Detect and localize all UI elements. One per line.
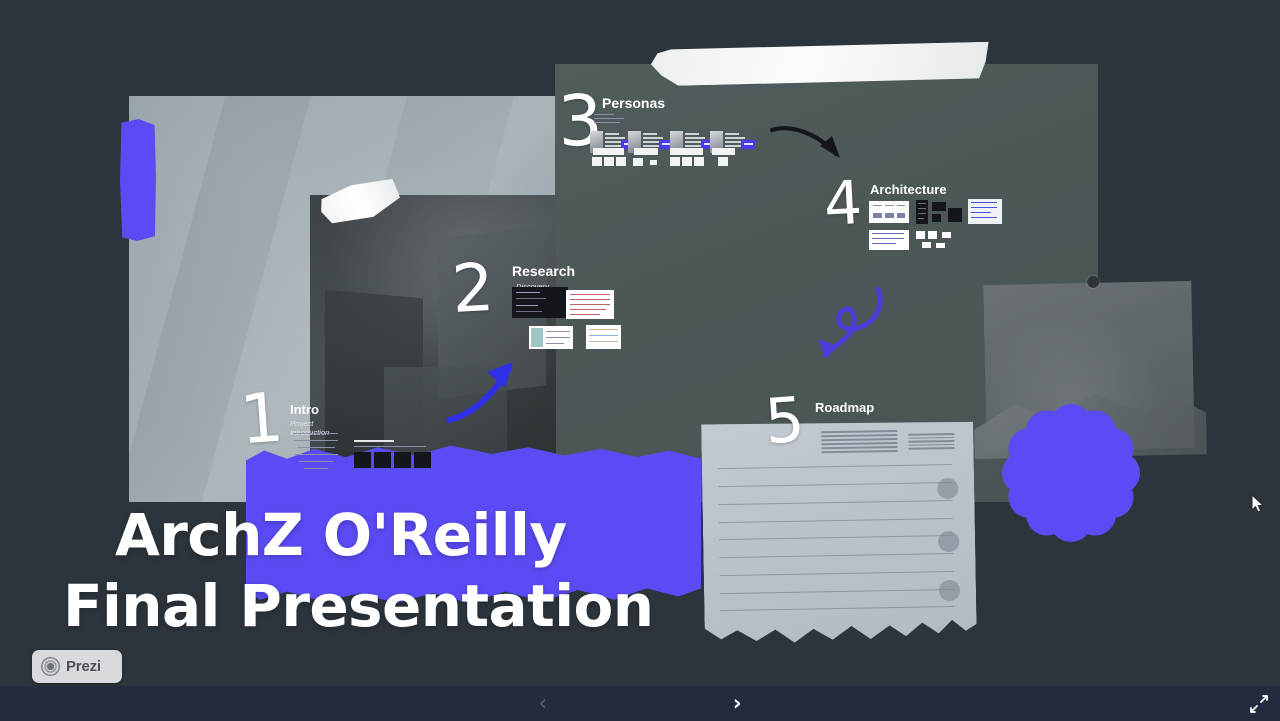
arch-wireframe: [968, 199, 1002, 224]
purple-flower-shape: [996, 398, 1146, 548]
persona-subcard: [694, 157, 704, 166]
persona-subcard: [634, 148, 658, 155]
title-line-2: Final Presentation: [63, 571, 763, 642]
presentation-bottom-bar: ‹ ›: [0, 686, 1280, 721]
prezi-logo-icon: [41, 657, 60, 676]
arch-node: [922, 242, 931, 248]
next-slide-button[interactable]: ›: [733, 693, 742, 714]
persona-subcard: [670, 148, 703, 155]
roadmap-paragraph: [821, 430, 898, 455]
section-number: 1: [238, 391, 283, 449]
intro-stat-card: [374, 452, 391, 468]
arch-sitemap-card: [869, 201, 909, 223]
roadmap-dot: [938, 531, 959, 552]
mouse-cursor: [1251, 494, 1265, 514]
section-title: Research: [512, 263, 575, 279]
arch-node: [936, 243, 945, 248]
persona-subcard: [718, 157, 728, 166]
intro-text-block: [290, 427, 342, 475]
persona-subcard: [604, 157, 614, 166]
persona-subcard: [593, 148, 624, 155]
section-title: Architecture: [870, 182, 947, 197]
arch-screen: [932, 202, 946, 211]
persona-subcard: [670, 157, 680, 166]
purple-loop-arrow-icon: [812, 283, 892, 363]
arch-screen: [932, 214, 941, 222]
persona-subcard: [650, 160, 657, 165]
title-line-1: ArchZ O'Reilly: [63, 500, 763, 571]
arch-node: [942, 232, 951, 238]
blue-up-arrow-icon: [447, 358, 527, 428]
pin-icon: [1087, 276, 1099, 288]
persona-badge: [741, 140, 756, 149]
arch-nav-panel: [916, 200, 928, 224]
prezi-badge-label: Prezi: [66, 658, 101, 675]
intro-stat-card: [354, 452, 371, 468]
personas-intro-text: [594, 113, 628, 127]
research-survey-card: [529, 326, 573, 349]
research-dark-card: [512, 287, 568, 318]
research-affinity-map: [566, 290, 614, 319]
section-number: 2: [451, 261, 494, 317]
roadmap-dot: [937, 478, 958, 499]
arch-node: [928, 231, 937, 239]
roadmap-dot: [939, 580, 960, 601]
persona-subcard: [616, 157, 626, 166]
section-title: Intro: [290, 402, 319, 417]
section-number: 4: [823, 179, 862, 230]
roadmap-sidenote: [908, 433, 955, 451]
arch-screen: [948, 208, 962, 222]
section-title: Personas: [602, 95, 665, 111]
persona-subcard: [712, 148, 735, 155]
persona-subcard: [592, 157, 602, 166]
arch-node: [916, 231, 925, 239]
research-matrix-card: [586, 325, 621, 349]
presentation-title: ArchZ O'Reilly Final Presentation: [63, 500, 763, 642]
section-title: Roadmap: [815, 400, 874, 415]
section-number: 5: [763, 395, 804, 448]
intro-stat-card: [414, 452, 431, 468]
purple-paint-swatch: [120, 119, 156, 241]
prev-slide-button[interactable]: ‹: [538, 693, 546, 714]
fullscreen-icon[interactable]: [1250, 695, 1268, 713]
prezi-badge[interactable]: Prezi: [32, 650, 122, 683]
arch-flow-doc: [869, 230, 909, 250]
intro-stat-card: [394, 452, 411, 468]
persona-subcard: [633, 158, 643, 166]
presentation-canvas[interactable]: 1 Intro Project Introduction 2 Research …: [0, 0, 1280, 686]
persona-subcard: [682, 157, 692, 166]
